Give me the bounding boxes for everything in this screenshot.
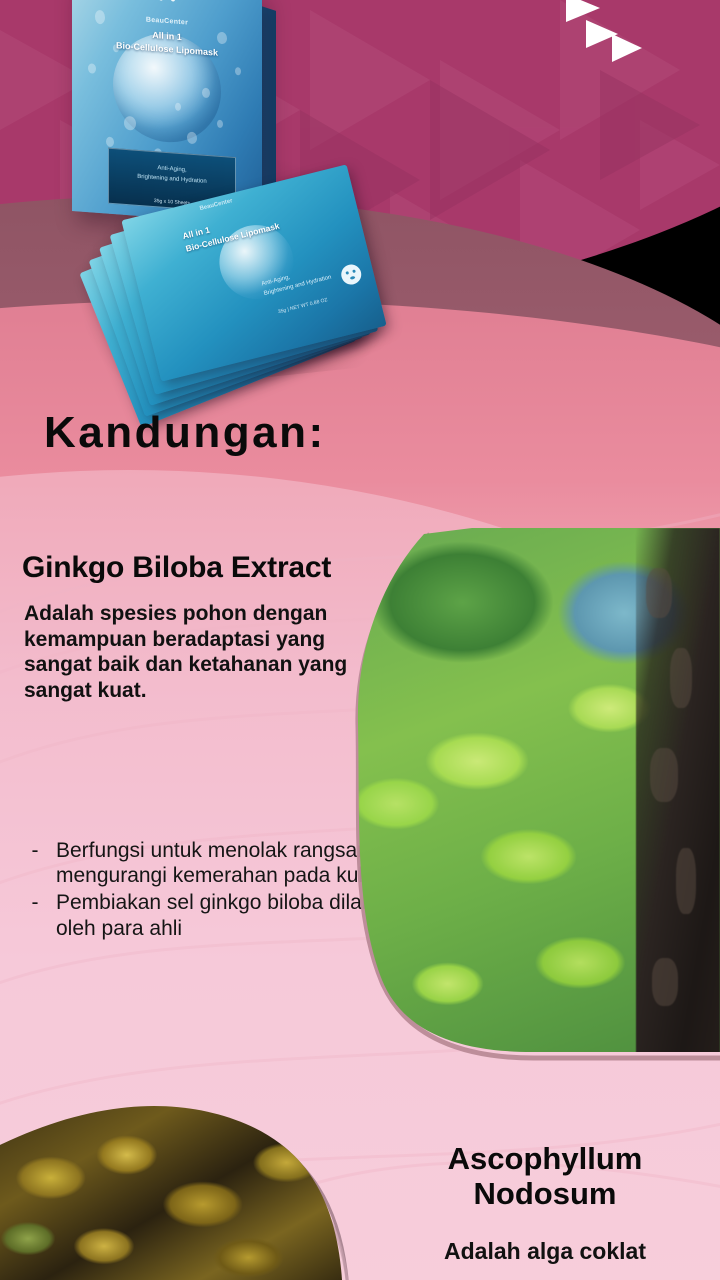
sachet-stack: BeauCenter All in 1 Bio-Cellulose Lipoma… (96, 168, 496, 418)
mask-face-icon (339, 262, 363, 286)
bullet-marker: - (14, 838, 56, 888)
ingredients-poster: BeauCenter All in 1 Bio-Cellulose Lipoma… (0, 0, 720, 1280)
ingredient-description-ascophyllum: Adalah alga coklat (380, 1238, 710, 1265)
net-weight: 35g | NET WT 0.88 OZ (277, 297, 328, 315)
ingredient-title-ascophyllum: Ascophyllum Nodosum (380, 1142, 710, 1211)
brand-name: BeauCenter (199, 198, 233, 212)
brown-algae-photo (0, 1098, 370, 1280)
white-triangle-accents-icon (556, 0, 666, 64)
ginkgo-photo-frame (352, 528, 720, 1058)
ingredient-description-ginkgo: Adalah spesies pohon dengan kemampuan be… (24, 601, 384, 703)
sachet-item-top: BeauCenter All in 1 Bio-Cellulose Lipoma… (121, 164, 386, 381)
page-title: Kandungan: (44, 408, 326, 458)
tree-bark-image (636, 528, 720, 1058)
ginkgo-leaves-photo (352, 528, 720, 1058)
bullet-marker: - (14, 890, 56, 940)
ingredient-title-ginkgo: Ginkgo Biloba Extract (22, 551, 331, 585)
hexagon-dots-logo-icon (152, 0, 182, 7)
product-photo: BeauCenter All in 1 Bio-Cellulose Lipoma… (0, 0, 500, 420)
